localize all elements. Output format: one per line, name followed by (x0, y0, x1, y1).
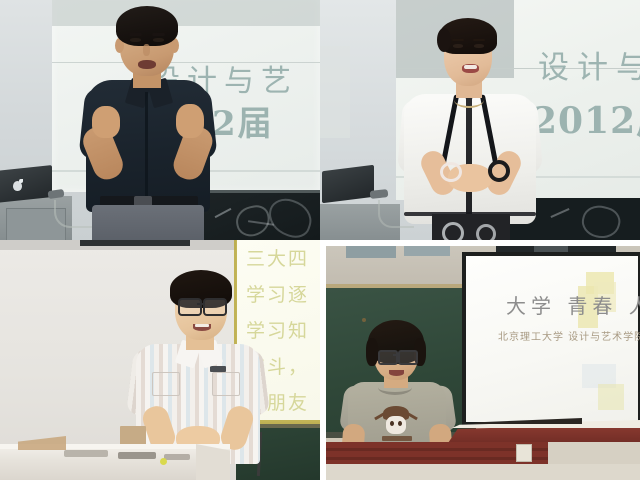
skirt-pattern-motif (442, 222, 464, 240)
podium-hardware (64, 450, 108, 457)
speaker-eyebrow-right (473, 39, 485, 41)
ceiling-dark-strip (80, 240, 190, 246)
photo-top-right[interactable]: 设计与 2012届 (320, 0, 640, 240)
speaker-nose (143, 44, 150, 56)
photo-collage: 设计与艺 2012届 (0, 0, 640, 480)
speaker-hand-left (92, 106, 120, 138)
slide-subtitle-text: 北京理工大学 设计与艺术学院 101 (498, 328, 640, 343)
projected-text-line-3: 学习知 (246, 316, 309, 343)
macbook-laptop (0, 165, 52, 203)
window-panel (404, 246, 450, 256)
bracelet (440, 162, 462, 182)
tshirt-print-eye-right (398, 421, 402, 426)
student-teeth (195, 324, 209, 327)
laptop (322, 165, 374, 203)
speaker-hand-right (176, 104, 204, 138)
eyeglasses-bridge (197, 303, 204, 305)
speaker-eyebrow-left (452, 39, 464, 41)
shirt-pocket-left (152, 372, 180, 396)
photo-inner: 大学 青春 人 北京理工大学 设计与艺术学院 101 (326, 246, 640, 480)
tshirt-print-eye-left (390, 421, 394, 426)
speaker-eye-left (453, 44, 463, 48)
photo-bottom-right[interactable]: 大学 青春 人 北京理工大学 设计与艺术学院 101 (320, 240, 640, 480)
photo-top-left[interactable]: 设计与艺 2012届 (0, 0, 320, 240)
tshirt-print-text (382, 436, 412, 441)
eyeglasses-lens-left (178, 298, 202, 316)
slide-title-text: 设计与 (538, 42, 640, 87)
speaker-eye-left (130, 38, 141, 42)
eyeglasses-lens-right (203, 298, 227, 316)
blackboard-frame (200, 190, 320, 193)
wristwatch (488, 160, 510, 182)
white-podium (0, 446, 230, 480)
projected-text-line-2: 学习逐 (246, 280, 309, 307)
speaker-eyebrow-right (152, 33, 165, 36)
speaker-hair (116, 6, 178, 46)
hair-bun (437, 28, 451, 52)
eyeglasses-bridge (393, 354, 399, 356)
wall-panel-left (320, 46, 350, 138)
podium-indicator-light (160, 458, 167, 465)
speaker-teeth (464, 65, 477, 69)
podium-hardware (164, 454, 190, 460)
tshirt-print-face (386, 416, 406, 434)
window-panel (346, 246, 396, 258)
chalkboard-speck (362, 318, 366, 322)
apple-logo-leaf-icon (19, 179, 23, 183)
shirt-placket (145, 92, 148, 200)
lower-wall-band (326, 464, 640, 480)
screen-shadow-band (52, 0, 320, 26)
student-mouth (389, 370, 404, 376)
shirt-badge (210, 366, 226, 372)
speaker-mouth (138, 60, 156, 69)
wall-outlet (516, 444, 532, 462)
trousers (92, 205, 204, 240)
speaker-eye-right (153, 38, 164, 42)
student-hair-side-left (366, 338, 378, 366)
projected-text-line-1: 三大四 (246, 244, 309, 271)
speaker-eyebrow-left (129, 33, 142, 36)
eyeglasses-lens-right (398, 350, 418, 365)
photo-bottom-left[interactable]: 三大四 学习逐 学习知 奋斗， 了朋友 (0, 240, 320, 480)
eyeglasses-lens-left (378, 350, 398, 365)
necklace (454, 92, 484, 108)
podium-hardware (118, 452, 156, 459)
shirt-pocket-right (212, 372, 240, 396)
slide-title-text: 大学 青春 人 (506, 290, 640, 319)
slide-highlight-block (598, 384, 624, 410)
skirt-pattern-motif (476, 224, 496, 240)
speaker-eye-right (474, 44, 484, 48)
slide-subtitle-text: 2012届 (532, 92, 640, 144)
